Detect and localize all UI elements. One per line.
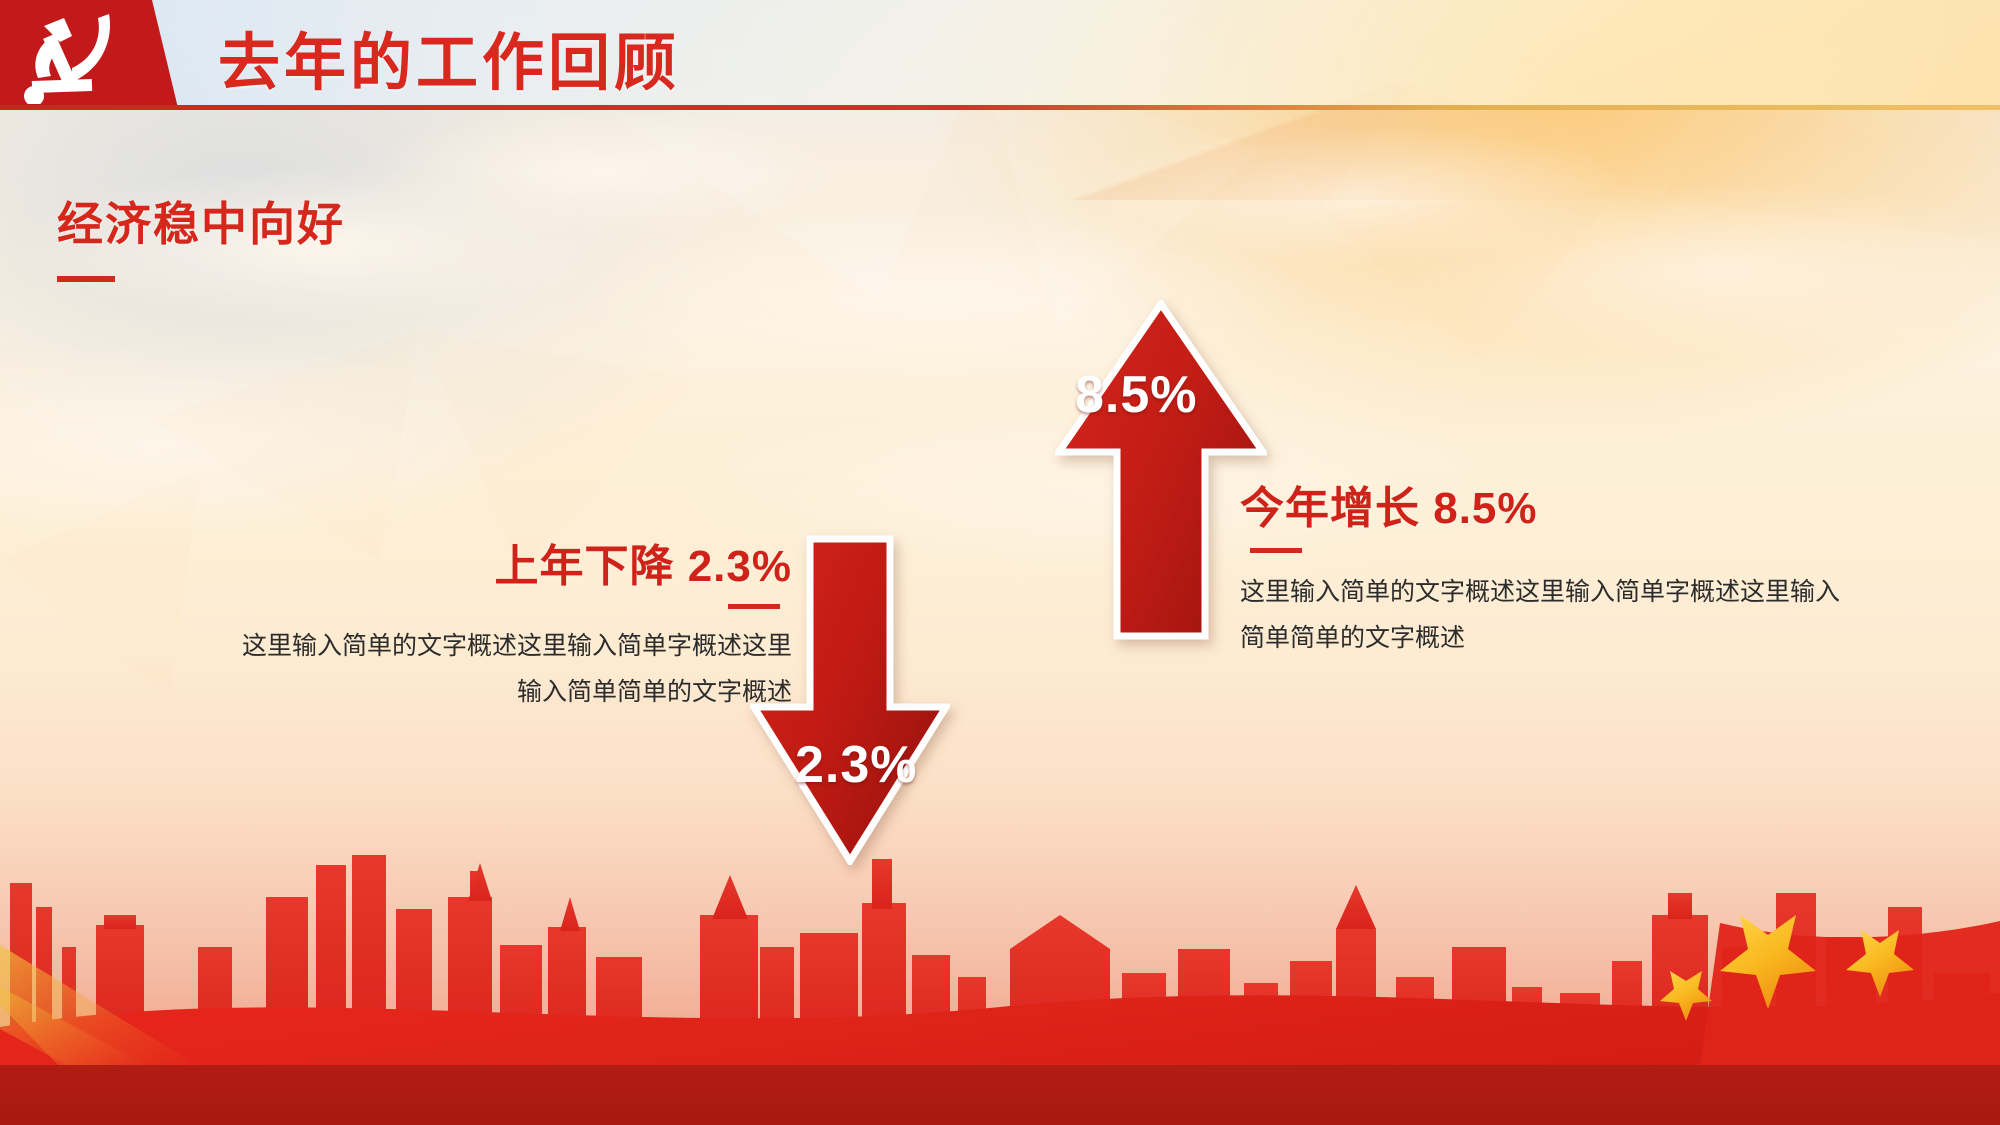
decline-callout: 上年下降 2.3% 这里输入简单的文字概述这里输入简单字概述这里输入简单简单的文… bbox=[232, 530, 792, 716]
hammer-and-sickle-emblem bbox=[14, 4, 134, 104]
decline-callout-title: 上年下降 2.3% bbox=[232, 530, 792, 594]
page-title: 去年的工作回顾 bbox=[218, 12, 680, 102]
section-title: 经济稳中向好 bbox=[57, 188, 345, 254]
golden-stars bbox=[1648, 913, 1978, 1063]
growth-callout-body: 这里输入简单的文字概述这里输入简单字概述这里输入简单简单的文字概述 bbox=[1240, 569, 1840, 662]
growth-callout-title: 今年增长 8.5% bbox=[1240, 472, 1840, 536]
section-underline-dash bbox=[57, 276, 115, 282]
section-heading-group: 经济稳中向好 bbox=[57, 188, 345, 282]
header-underline bbox=[0, 105, 2000, 110]
up-arrow-growth bbox=[1055, 300, 1267, 640]
slide-header: 去年的工作回顾 bbox=[0, 0, 2000, 112]
bottom-red-bar bbox=[0, 1065, 2000, 1125]
growth-callout: 今年增长 8.5% 这里输入简单的文字概述这里输入简单字概述这里输入简单简单的文… bbox=[1240, 472, 1840, 662]
slide-canvas: 去年的工作回顾 经济稳中向好 2.3% 8.5% 上 bbox=[0, 0, 2000, 1125]
growth-underline-dash bbox=[1250, 548, 1302, 553]
decline-callout-body: 这里输入简单的文字概述这里输入简单字概述这里输入简单简单的文字概述 bbox=[232, 623, 792, 716]
decline-underline-dash bbox=[728, 604, 780, 609]
